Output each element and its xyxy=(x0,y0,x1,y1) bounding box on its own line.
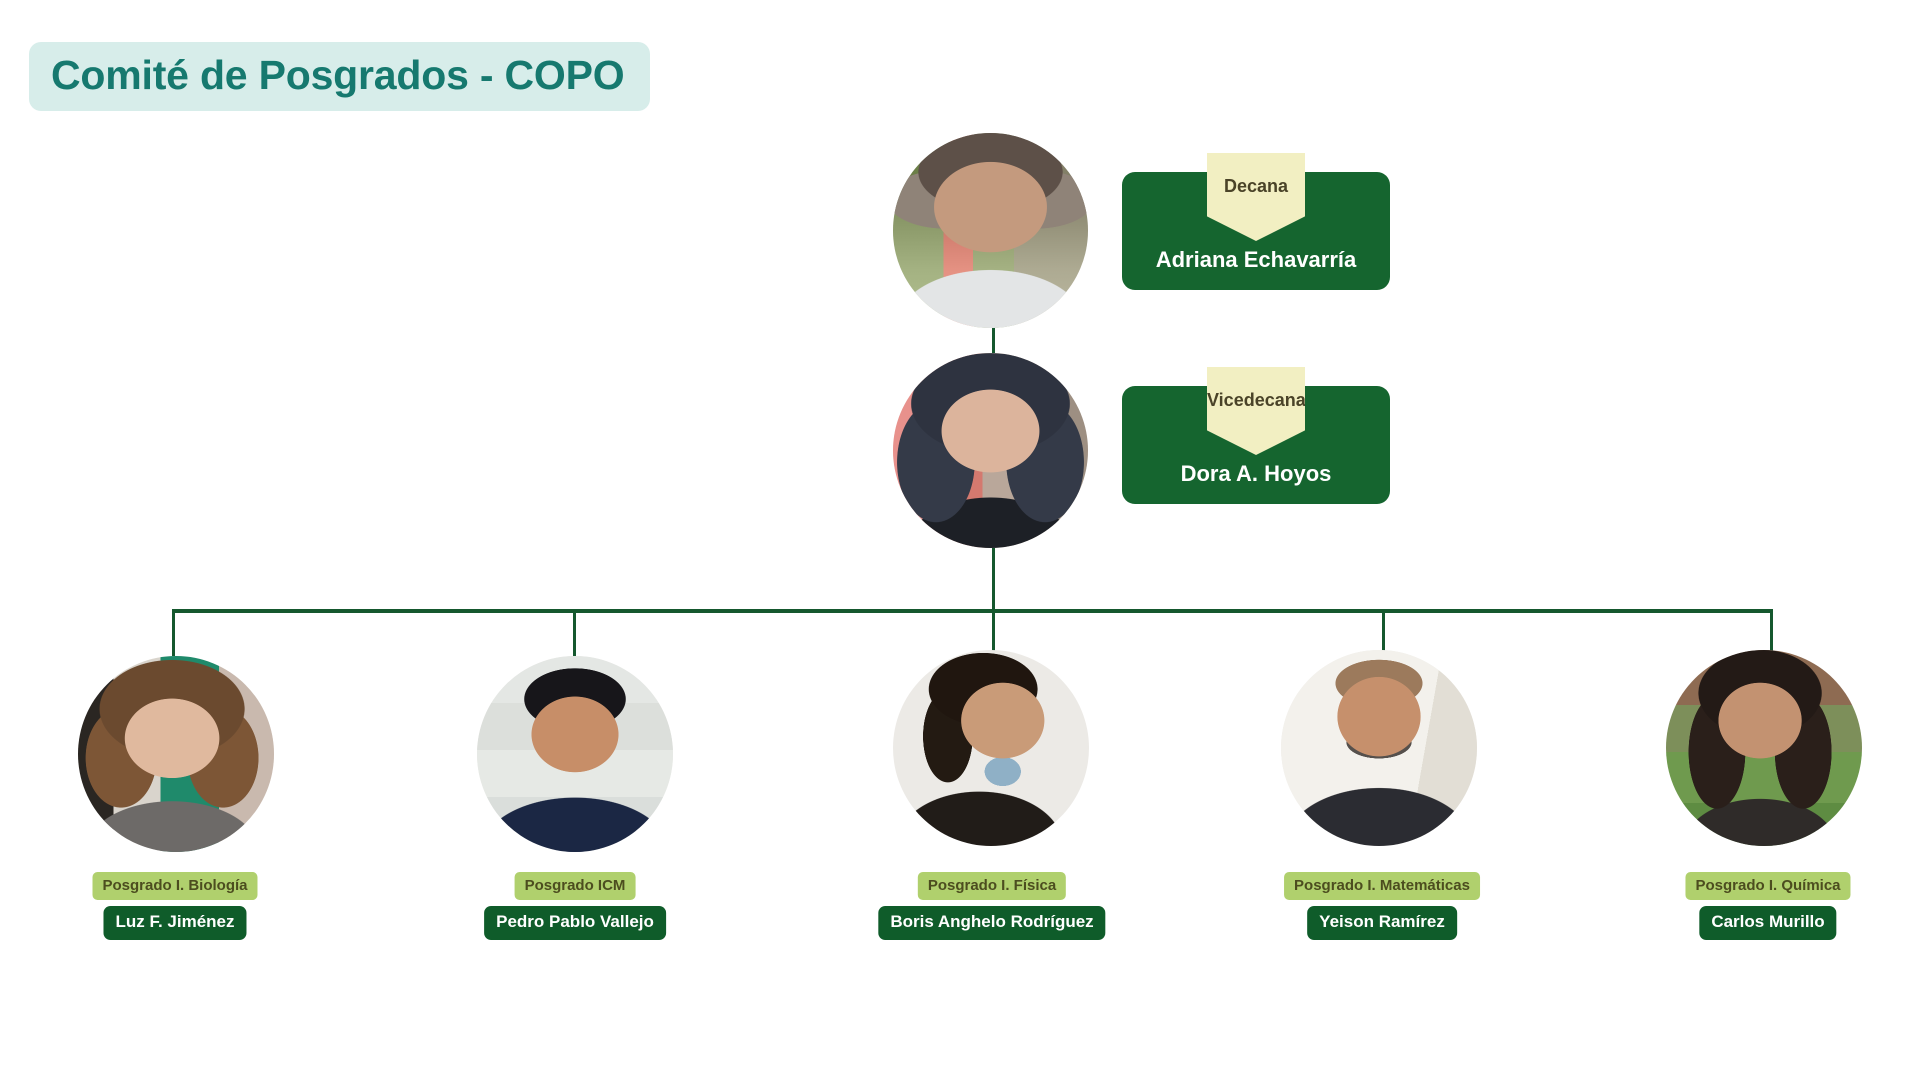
ribbon-vicedecana: Vicedecana xyxy=(1207,367,1305,455)
name-vicedecana: Dora A. Hoyos xyxy=(1122,461,1390,487)
avatar-icm-portrait xyxy=(477,656,673,852)
avatar-vicedecana xyxy=(893,353,1088,548)
avatar-vicedecana-portrait xyxy=(893,353,1088,548)
role-badge-fisica: Posgrado I. Física xyxy=(918,872,1066,900)
role-badge-icm: Posgrado ICM xyxy=(515,872,636,900)
role-badge-matematicas: Posgrado I. Matemáticas xyxy=(1284,872,1480,900)
role-label-decana: Decana xyxy=(1207,176,1305,197)
avatar-quimica-portrait xyxy=(1666,650,1862,846)
page-title: Comité de Posgrados - COPO xyxy=(29,42,650,111)
avatar-biologia xyxy=(78,656,274,852)
avatar-decana-portrait xyxy=(893,133,1088,328)
avatar-biologia-portrait xyxy=(78,656,274,852)
ribbon-decana: Decana xyxy=(1207,153,1305,241)
connector-drop-fisica xyxy=(992,609,995,656)
org-chart-canvas: Comité de Posgrados - COPO Decana Adrian… xyxy=(0,0,1920,1080)
name-badge-biologia: Luz F. Jiménez xyxy=(103,906,246,940)
connector-horizontal-bus xyxy=(172,609,1772,613)
role-label-vicedecana: Vicedecana xyxy=(1207,390,1305,411)
role-badge-biologia: Posgrado I. Biología xyxy=(92,872,257,900)
avatar-matematicas xyxy=(1281,650,1477,846)
connector-drop-icm xyxy=(573,609,576,656)
avatar-icm xyxy=(477,656,673,852)
card-decana[interactable]: Decana Adriana Echavarría xyxy=(1122,172,1390,290)
name-badge-quimica: Carlos Murillo xyxy=(1699,906,1836,940)
connector-drop-quimica xyxy=(1770,609,1773,656)
avatar-fisica xyxy=(893,650,1089,846)
card-vicedecana[interactable]: Vicedecana Dora A. Hoyos xyxy=(1122,386,1390,504)
avatar-fisica-portrait xyxy=(893,650,1089,846)
name-badge-matematicas: Yeison Ramírez xyxy=(1307,906,1457,940)
name-badge-fisica: Boris Anghelo Rodríguez xyxy=(878,906,1105,940)
name-decana: Adriana Echavarría xyxy=(1122,247,1390,273)
connector-drop-matematicas xyxy=(1382,609,1385,656)
role-badge-quimica: Posgrado I. Química xyxy=(1685,872,1850,900)
avatar-decana xyxy=(893,133,1088,328)
avatar-matematicas-portrait xyxy=(1281,650,1477,846)
name-badge-icm: Pedro Pablo Vallejo xyxy=(484,906,666,940)
connector-drop-biologia xyxy=(172,609,175,656)
avatar-quimica xyxy=(1666,650,1862,846)
